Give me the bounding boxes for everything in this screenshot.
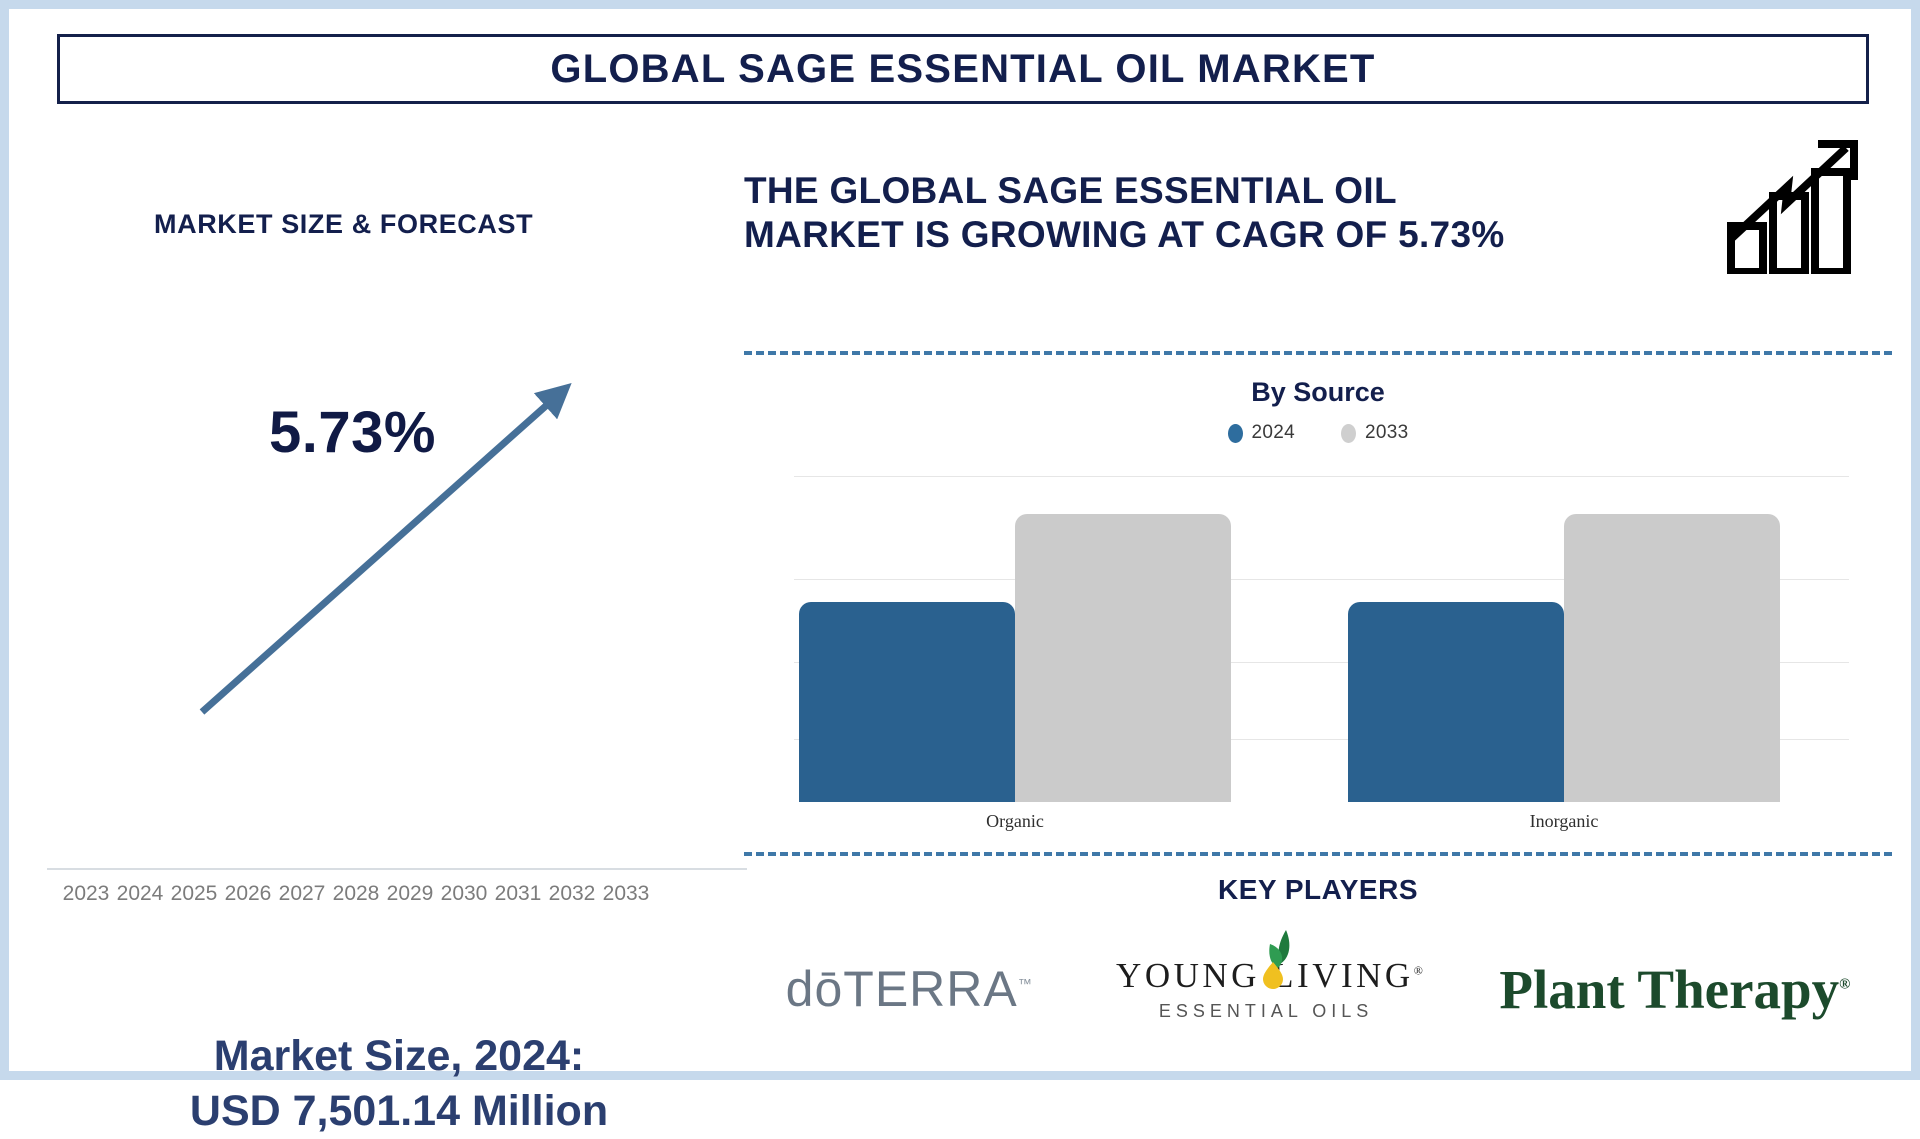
- category-label-organic: Organic: [907, 811, 1123, 832]
- bar-organic-2024: [799, 602, 1015, 802]
- growth-chart-icon: [1726, 134, 1876, 274]
- forecast-year-labels: 2023 2024 2025 2026 2027 2028 2029 2030 …: [47, 874, 747, 906]
- legend-item-2033: 2033: [1341, 422, 1408, 444]
- divider-bottom: [744, 852, 1892, 856]
- gridline-1: [794, 476, 1849, 477]
- infographic-poster: GLOBAL SAGE ESSENTIAL OIL MARKET MARKET …: [0, 0, 1920, 1080]
- category-label-inorganic: Inorganic: [1456, 811, 1672, 832]
- legend-item-2024: 2024: [1228, 422, 1295, 444]
- divider-top: [744, 351, 1892, 355]
- trend-arrow-icon: [47, 364, 747, 869]
- logo-young-living: YOUNG LIVING® ESSENTIAL OILS: [1116, 956, 1416, 1022]
- bar-organic-2033: [1015, 514, 1231, 802]
- market-size-forecast-label: MARKET SIZE & FORECAST: [154, 209, 533, 240]
- by-source-chart: Organic Inorganic: [744, 464, 1892, 834]
- logo-doterra-text: dōTERRA: [786, 961, 1018, 1017]
- logo-plant-therapy: Plant Therapy®: [1499, 958, 1850, 1021]
- leaf-drop-icon: [1256, 928, 1298, 990]
- page-title-box: GLOBAL SAGE ESSENTIAL OIL MARKET: [57, 34, 1869, 104]
- market-size-line-2: USD 7,501.14 Million: [29, 1084, 769, 1139]
- logo-plant-therapy-text: Plant Therapy: [1499, 959, 1839, 1020]
- logo-young-living-subtitle: ESSENTIAL OILS: [1116, 1001, 1416, 1022]
- market-size-callout: Market Size, 2024: USD 7,501.14 Million: [29, 1029, 769, 1139]
- logo-doterra-tm: ™: [1018, 975, 1033, 991]
- key-players-logos: dōTERRA™ YOUNG LIVING® ESSENTIAL OILS Pl…: [744, 924, 1892, 1054]
- by-source-title: By Source: [744, 377, 1892, 408]
- year-label-2033: 2033: [593, 882, 659, 906]
- page-title: GLOBAL SAGE ESSENTIAL OIL MARKET: [550, 47, 1375, 92]
- cagr-headline-line-1: THE GLOBAL SAGE ESSENTIAL OIL: [744, 169, 1704, 213]
- forecast-bars-area: [47, 364, 747, 869]
- legend-dot-icon-2024: [1228, 424, 1243, 443]
- right-panel: THE GLOBAL SAGE ESSENTIAL OIL MARKET IS …: [744, 129, 1894, 1059]
- market-size-forecast-chart: 2023 2024 2025 2026 2027 2028 2029 2030 …: [47, 359, 747, 914]
- bar-inorganic-2024: [1348, 602, 1564, 802]
- forecast-axis-line: [47, 868, 747, 870]
- cagr-headline: THE GLOBAL SAGE ESSENTIAL OIL MARKET IS …: [744, 169, 1704, 258]
- legend-label-2024: 2024: [1252, 422, 1295, 444]
- legend-dot-icon-2033: [1341, 424, 1356, 443]
- by-source-legend: 2024 2033: [744, 422, 1892, 444]
- cagr-headline-line-2: MARKET IS GROWING AT CAGR OF 5.73%: [744, 213, 1704, 257]
- left-panel: MARKET SIZE & FORECAST 5.73%: [29, 129, 749, 1049]
- logo-plant-therapy-reg: ®: [1839, 976, 1850, 992]
- logo-doterra: dōTERRA™: [786, 960, 1033, 1018]
- bar-inorganic-2033: [1564, 514, 1780, 802]
- legend-label-2033: 2033: [1365, 422, 1408, 444]
- market-size-line-1: Market Size, 2024:: [29, 1029, 769, 1084]
- logo-yl-reg: ®: [1414, 963, 1427, 977]
- key-players-title: KEY PLAYERS: [744, 874, 1892, 906]
